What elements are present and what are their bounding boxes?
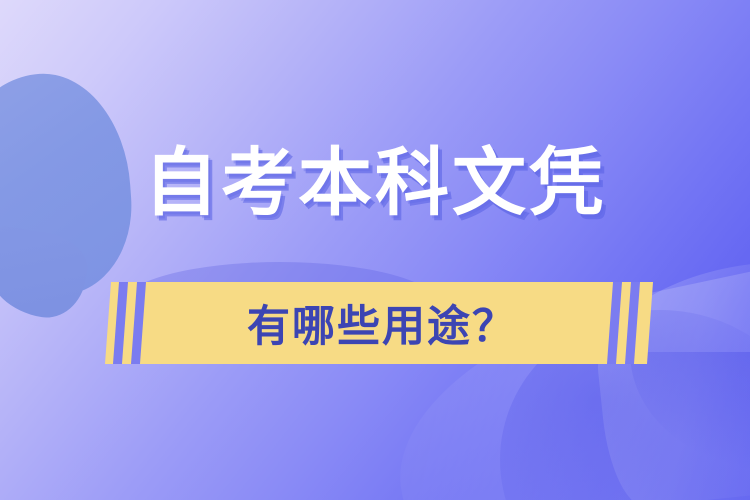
banner-headline: 自考本科文凭 xyxy=(0,146,750,220)
banner-subtitle: 有哪些用途？ xyxy=(108,282,650,364)
decorative-corner-notch-right xyxy=(630,352,750,472)
promo-banner: 自考本科文凭 有哪些用途？ xyxy=(0,0,750,500)
decorative-blob-left-tip xyxy=(0,225,92,323)
subtitle-band: 有哪些用途？ xyxy=(105,282,653,364)
